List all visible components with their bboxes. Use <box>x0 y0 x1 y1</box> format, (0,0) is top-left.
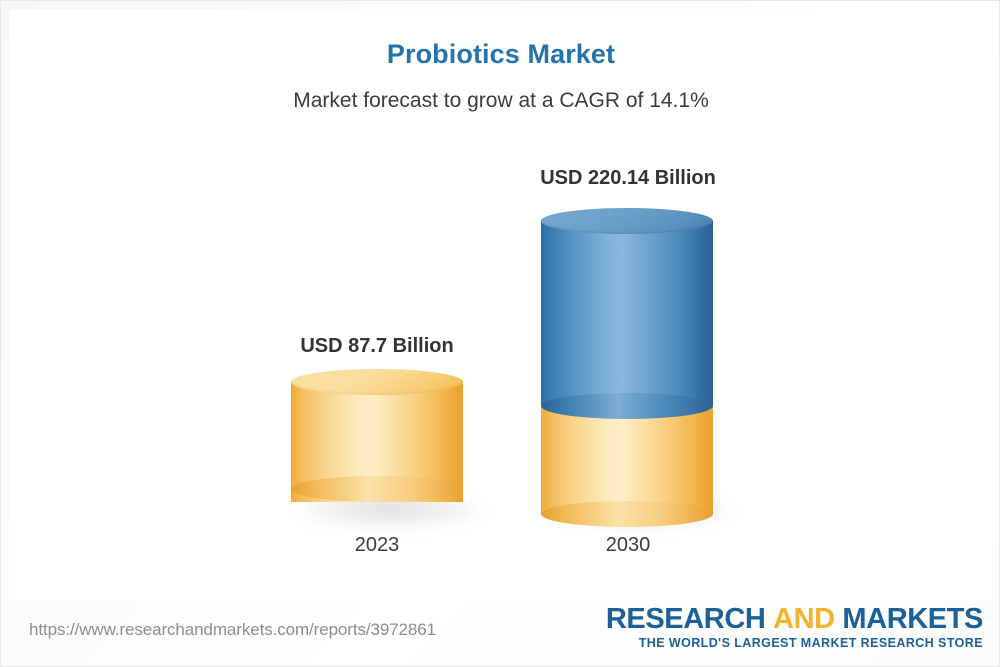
brand-tagline: THE WORLD'S LARGEST MARKET RESEARCH STOR… <box>606 636 983 650</box>
data-label-2030: USD 220.14 Billion <box>478 167 778 190</box>
bar-2030[interactable] <box>541 208 713 515</box>
brand-logo[interactable]: RESEARCH AND MARKETS THE WORLD'S LARGEST… <box>606 604 983 650</box>
data-label-2023: USD 87.7 Billion <box>227 335 527 358</box>
footer: https://www.researchandmarkets.com/repor… <box>1 600 1000 666</box>
bar-2023[interactable] <box>291 369 463 515</box>
bar-2023-bottom-cap <box>291 476 463 502</box>
bar-2030-top-cap <box>541 208 713 234</box>
page-title: Probiotics Market <box>1 39 1000 70</box>
brand-word-and: AND <box>773 603 835 635</box>
bar-2030-segment-divider <box>541 393 713 419</box>
brand-word-markets: MARKETS <box>842 603 983 635</box>
source-url-link[interactable]: https://www.researchandmarkets.com/repor… <box>29 620 436 640</box>
bar-2030-bottom-cap <box>541 501 713 527</box>
chart-subtitle: Market forecast to grow at a CAGR of 14.… <box>1 89 1000 113</box>
bar-2030-upper-segment <box>541 221 713 406</box>
brand-word-research: RESEARCH <box>606 603 766 635</box>
brand-wordmark: RESEARCH AND MARKETS <box>606 604 983 634</box>
category-label-2030: 2030 <box>478 534 778 557</box>
chart-card: Probiotics Market Market forecast to gro… <box>0 0 1000 667</box>
bar-2023-top-cap <box>291 369 463 395</box>
